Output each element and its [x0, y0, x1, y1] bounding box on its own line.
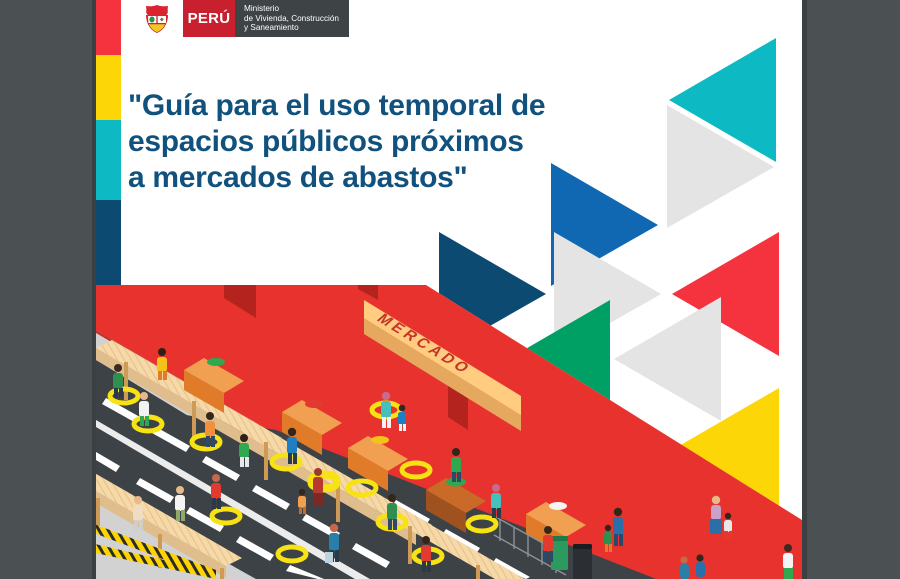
person	[313, 468, 323, 505]
person	[157, 348, 167, 380]
document-viewer: MERCADO	[0, 0, 900, 579]
person-child	[398, 405, 406, 431]
color-band-navy	[96, 200, 121, 285]
person	[421, 536, 431, 572]
ministry-line-1: Ministerio	[244, 4, 339, 14]
title-line-2: espacios públicos próximos	[128, 124, 648, 160]
peru-coat-of-arms-icon	[131, 0, 183, 37]
page-edge-shadow-right	[802, 0, 807, 579]
title-line-3: a mercados de abastos"	[128, 160, 648, 196]
page-title: "Guía para el uso temporal de espacios p…	[128, 88, 648, 196]
person	[381, 392, 391, 428]
color-band-yellow	[96, 55, 121, 120]
ministry-name-block: Ministerio de Vivienda, Construcción y S…	[235, 0, 349, 37]
person-child	[298, 489, 306, 514]
person	[491, 484, 501, 518]
person-child	[604, 525, 612, 552]
document-page: MERCADO	[96, 0, 802, 579]
person	[175, 486, 185, 521]
ministry-line-3: y Saneamiento	[244, 23, 339, 33]
person	[783, 544, 793, 579]
ministry-logo-bar: PERÚ Ministerio de Vivienda, Construcció…	[131, 0, 349, 37]
market-illustration: MERCADO	[96, 0, 802, 579]
person	[543, 526, 553, 562]
color-band-teal	[96, 120, 121, 200]
person-child	[724, 513, 732, 539]
brand-color-bar	[96, 0, 121, 285]
title-line-1: "Guía para el uso temporal de	[128, 88, 648, 124]
person	[139, 392, 149, 426]
person	[239, 434, 249, 467]
person	[387, 494, 397, 530]
person	[133, 496, 143, 531]
person	[205, 412, 215, 447]
person	[613, 508, 623, 546]
person	[451, 448, 461, 482]
person	[211, 474, 221, 509]
person	[113, 364, 123, 398]
person	[287, 428, 297, 464]
color-band-red	[96, 0, 121, 55]
ministry-line-2: de Vivienda, Construcción	[244, 14, 339, 24]
peru-wordmark: PERÚ	[183, 0, 235, 37]
